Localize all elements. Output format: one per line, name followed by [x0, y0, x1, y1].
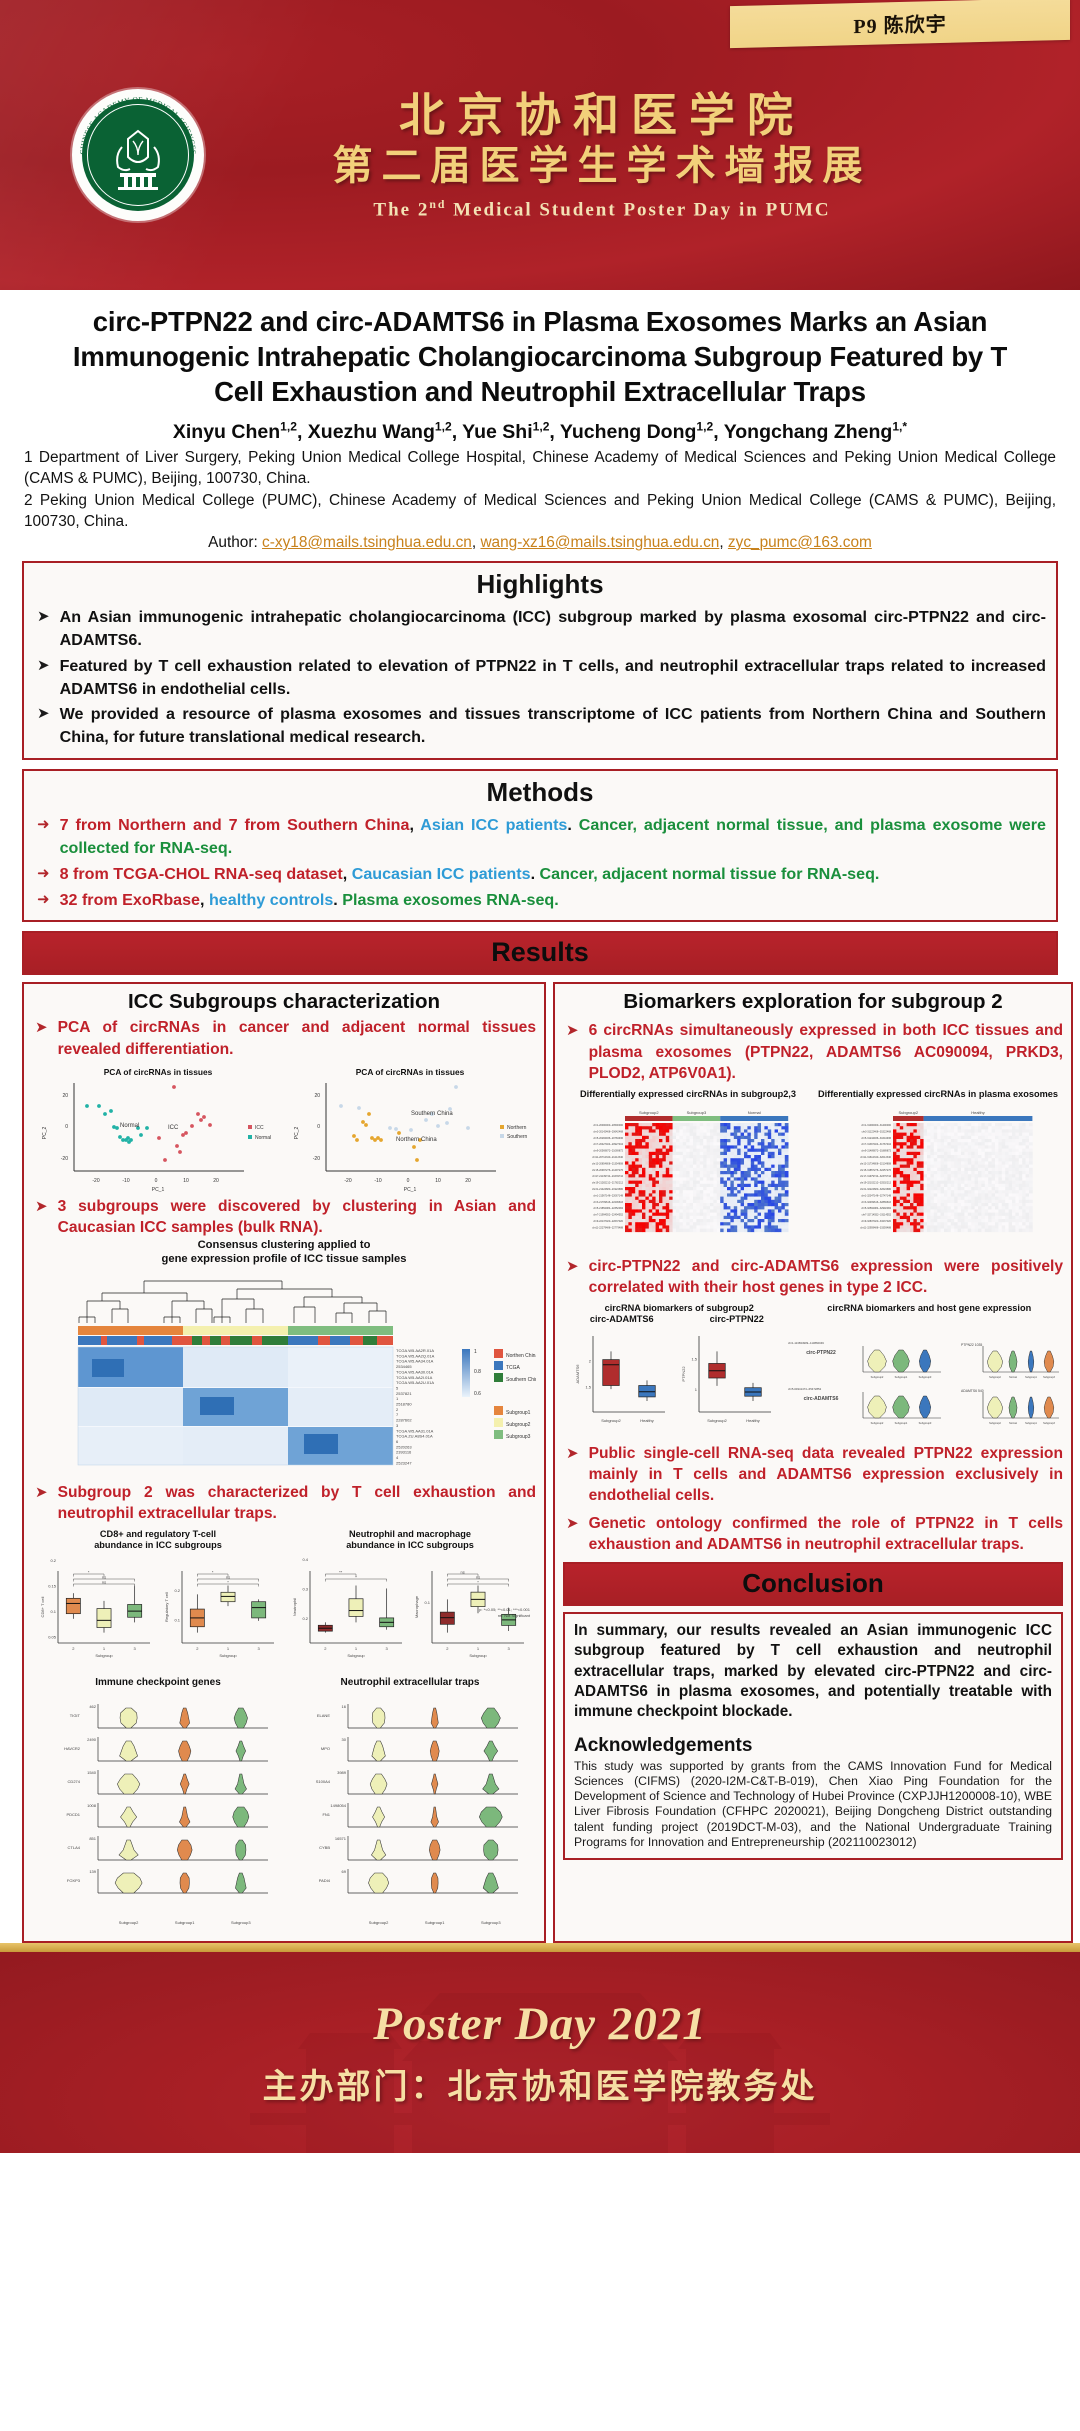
- svg-text:-10: -10: [122, 1178, 129, 1184]
- heatmap-group-label: Subgroup2: [899, 1110, 919, 1115]
- svg-text:Subgroup2: Subgroup2: [871, 1375, 884, 1379]
- svg-text:3: 3: [134, 1646, 137, 1651]
- svg-text:ns: ns: [461, 1569, 465, 1574]
- svg-text:ns: Not Significant: ns: Not Significant: [498, 1613, 531, 1618]
- legend-northern: Northen China: [506, 1353, 536, 1359]
- svg-text:3: 3: [508, 1646, 511, 1651]
- arrow-icon: ➤: [34, 606, 50, 627]
- email-link-3[interactable]: zyc_pumc@163.com: [728, 534, 872, 551]
- violin-gene-label: PDCD1: [66, 1812, 80, 1817]
- svg-text:CHINESE ACADEMY OF MEDICAL SCI: CHINESE ACADEMY OF MEDICAL SCIENCES: [78, 95, 198, 155]
- violin-max-value: 1008: [87, 1803, 97, 1808]
- svg-text:PC_1: PC_1: [404, 1187, 417, 1193]
- violin-max-value: 2490: [87, 1737, 97, 1742]
- svg-text:Subgroup1: Subgroup1: [895, 1375, 908, 1379]
- heatmap-row-label: 4: [396, 1455, 399, 1460]
- results-left-column: ICC Subgroups characterization ➤ PCA of …: [22, 982, 546, 1943]
- circrna-name: circ-PTPN22: [806, 1350, 836, 1356]
- right-bullet-2: ➤ circ-PTPN22 and circ-ADAMTS6 expressio…: [563, 1256, 1063, 1298]
- acknowledgements-heading: Acknowledgements: [574, 1735, 1052, 1757]
- svg-text:chr9-31489872--31889872: chr9-31489872--31889872: [861, 1149, 891, 1152]
- axis-label: PTPN22: [681, 1366, 686, 1382]
- cluster-caption-line2: gene expression profile of ICC tissue sa…: [32, 1252, 536, 1266]
- svg-text:1.5: 1.5: [691, 1357, 697, 1362]
- author-emails: Author: c-xy18@mails.tsinghua.edu.cn, wa…: [16, 532, 1064, 552]
- method-text: 8 from TCGA-CHOL RNA-seq dataset, Caucas…: [60, 863, 1046, 886]
- methods-section: Methods ➜7 from Northern and 7 from Sout…: [22, 769, 1058, 922]
- right-bullet-2-text: circ-PTPN22 and circ-ADAMTS6 expression …: [589, 1256, 1063, 1298]
- tiananmen-gate-illustration: [190, 1963, 890, 2153]
- svg-text:chr7-21994552--22494552: chr7-21994552--22494552: [593, 1213, 623, 1216]
- heatmap-row-label: TCGA.W5.AA2I.01A: [396, 1375, 433, 1380]
- banner-english-title: The 2nd Medical Student Poster Day in PU…: [204, 198, 1000, 221]
- svg-text:chr9-20569872--21069872: chr9-20569872--21069872: [593, 1149, 623, 1152]
- boxplots-figure: 0.050.10.150.2CD8+ T cell*nsns0.10.2Regu…: [32, 1557, 536, 1675]
- svg-text:Subgroup2: Subgroup2: [989, 1376, 1001, 1379]
- scale-tick-08: 0.8: [474, 1369, 481, 1375]
- svg-text:Northern: Northern: [507, 1125, 527, 1131]
- email-label: Author:: [208, 534, 258, 551]
- poster-number-label: P9 陈欣宇: [853, 7, 946, 38]
- svg-text:chr7-32714552--33114552: chr7-32714552--33114552: [862, 1213, 892, 1216]
- svg-text:chr5-21852084--22352084: chr5-21852084--22352084: [593, 1207, 623, 1210]
- results-right-column: Biomarkers exploration for subgroup 2 ➤ …: [553, 982, 1073, 1943]
- svg-text:3: 3: [386, 1646, 389, 1651]
- poster-number-tag: P9 陈欣宇: [730, 0, 1070, 48]
- svg-text:0.15: 0.15: [48, 1583, 57, 1588]
- svg-text:chr11-32959488--33359488: chr11-32959488--33359488: [860, 1226, 891, 1229]
- violin-gene-label: MPO: [321, 1746, 330, 1751]
- violin-xlabel: Subgroup2: [369, 1920, 389, 1925]
- violin-gene-label: CTLA4: [68, 1845, 81, 1850]
- svg-text:chr15-20997276--21497276: chr15-20997276--21497276: [592, 1168, 624, 1171]
- svg-text:Southern: Southern: [507, 1134, 528, 1140]
- axis-label: Macrophage: [414, 1595, 419, 1618]
- violin-max-value: 1540: [87, 1770, 97, 1775]
- svg-text:0.4: 0.4: [302, 1557, 308, 1562]
- svg-text:2: 2: [589, 1359, 592, 1364]
- svg-text:chr1-31000000--31400000: chr1-31000000--31400000: [861, 1124, 891, 1127]
- host-gene-caption: circRNA biomarkers and host gene express…: [797, 1303, 1062, 1315]
- violin-max-value: 1498054: [330, 1803, 346, 1808]
- svg-text:Subgroup1: Subgroup1: [1025, 1376, 1037, 1379]
- box-group-label: Healthy: [746, 1418, 760, 1423]
- results-columns: ICC Subgroups characterization ➤ PCA of …: [22, 982, 1058, 1943]
- hm2-caption: Differentially expressed circRNAs in pla…: [816, 1089, 1061, 1101]
- method-item: ➜7 from Northern and 7 from Southern Chi…: [34, 814, 1046, 860]
- conclusion-band: Conclusion: [563, 1562, 1063, 1606]
- svg-text:chr1-32347148--32747148: chr1-32347148--32747148: [861, 1194, 891, 1197]
- svg-text:0: 0: [317, 1124, 320, 1130]
- left-bullet-2: ➤ 3 subgroups were discovered by cluster…: [32, 1196, 536, 1238]
- svg-text:chr5-20284936--20784936: chr5-20284936--20784936: [593, 1136, 623, 1139]
- boxplot-b-caption-2: abundance in ICC subgroups: [284, 1540, 536, 1552]
- svg-text:-20: -20: [92, 1178, 99, 1184]
- svg-text:-20: -20: [313, 1156, 320, 1162]
- violin-max-value: 16: [342, 1704, 347, 1709]
- violin-max-value: 16571: [335, 1836, 347, 1841]
- right-column-heading: Biomarkers exploration for subgroup 2: [563, 990, 1063, 1014]
- svg-text:Normal: Normal: [1009, 1422, 1017, 1425]
- abundance-boxplots: 0.050.10.150.2CD8+ T cell*nsns0.10.2Regu…: [32, 1557, 536, 1675]
- differential-circrna-heatmaps: Subgroup2Subgroup3Normalchr1-20000000--2…: [563, 1101, 1063, 1251]
- conclusion-box: In summary, our results revealed an Asia…: [563, 1612, 1063, 1860]
- right-bullet-4: ➤ Genetic ontology confirmed the role of…: [563, 1513, 1063, 1555]
- affiliation-2: 2 Peking Union Medical College (PUMC), C…: [16, 489, 1064, 532]
- svg-text:10: 10: [435, 1178, 441, 1184]
- svg-text:chr3-20142468--20642468: chr3-20142468--20642468: [593, 1130, 623, 1133]
- violin-gene-label: HAVCR2: [64, 1746, 81, 1751]
- pumc-logo: CHINESE ACADEMY OF MEDICAL SCIENCES: [72, 89, 204, 221]
- arrow-icon: ➤: [563, 1443, 579, 1464]
- svg-text:PC_2: PC_2: [42, 1126, 48, 1139]
- heatmap-group-label: Healthy: [971, 1110, 985, 1115]
- violin-max-value: 69: [342, 1869, 347, 1874]
- heatmap-row-label: 1: [396, 1396, 399, 1401]
- svg-text:20: 20: [314, 1093, 320, 1099]
- author-name: Yue Shi1,2,: [462, 421, 560, 443]
- svg-text:chr13-31734808--32134808: chr13-31734808--32134808: [860, 1162, 892, 1165]
- consensus-clustering-figure: TCGA.W5.AA2R.01ATCGA.W5.AA2Q.01ATCGA.W5.…: [32, 1271, 536, 1479]
- svg-text:chr1-21567148--22067148: chr1-21567148--22067148: [593, 1194, 623, 1197]
- poster-body: circ-PTPN22 and circ-ADAMTS6 in Plasma E…: [0, 290, 1080, 1943]
- pca-figure-row: PCA of circRNAs in tissues 20 0 -20 PC_2…: [32, 1065, 536, 1193]
- pca-chart-tissues-icc-normal: PCA of circRNAs in tissues 20 0 -20 PC_2…: [34, 1065, 282, 1193]
- violin-gene-label: FOXP3: [67, 1878, 81, 1883]
- svg-text:1.5: 1.5: [585, 1385, 591, 1390]
- svg-text:chr9-22137020--22637020: chr9-22137020--22637020: [593, 1220, 623, 1223]
- heatmap-row-label: 2537821: [396, 1391, 412, 1396]
- svg-text:*: *: [355, 1574, 357, 1579]
- box-group-label: Healthy: [640, 1418, 654, 1423]
- svg-text:-10: -10: [374, 1178, 381, 1184]
- violin-gene-label: CYBB: [319, 1845, 330, 1850]
- svg-text:Normal: Normal: [255, 1135, 271, 1141]
- author-list: Xinyu Chen1,2, Xuezhu Wang1,2, Yue Shi1,…: [16, 414, 1064, 447]
- svg-text:Normal: Normal: [120, 1123, 139, 1129]
- legend-subgroup2: Subgroup2: [506, 1422, 531, 1428]
- svg-text:Subgroup: Subgroup: [219, 1653, 237, 1658]
- svg-text:p: *<0.05; **<0.01; ***<0.001: p: *<0.05; **<0.01; ***<0.001: [479, 1607, 531, 1612]
- svg-text:1: 1: [103, 1646, 106, 1651]
- footer-banner: Poster Day 2021 主办部门：北京协和医学院教务处: [0, 1952, 1080, 2153]
- left-column-heading: ICC Subgroups characterization: [32, 990, 536, 1014]
- svg-text:0.2: 0.2: [302, 1616, 308, 1621]
- svg-text:ICC: ICC: [255, 1125, 264, 1131]
- svg-text:Southern China: Southern China: [411, 1111, 453, 1117]
- svg-text:PC_1: PC_1: [152, 1187, 165, 1193]
- box-caption-main: circRNA biomarkers of subgroup2: [564, 1303, 794, 1315]
- acknowledgements-text: This study was supported by grants from …: [574, 1759, 1052, 1851]
- legend-subgroup3: Subgroup3: [506, 1434, 531, 1440]
- svg-text:0.2: 0.2: [50, 1558, 56, 1563]
- axis-label: ADAMTS6: [575, 1364, 580, 1384]
- right-bullet-1: ➤ 6 circRNAs simultaneously expressed in…: [563, 1020, 1063, 1084]
- highlight-item: ➤ We provided a resource of plasma exoso…: [34, 703, 1046, 749]
- heatmap-row-label: 5: [396, 1386, 399, 1391]
- consensus-heatmap: TCGA.W5.AA2R.01ATCGA.W5.AA2Q.01ATCGA.W5.…: [32, 1271, 536, 1479]
- violin-xlabel: Subgroup3: [481, 1920, 501, 1925]
- svg-text:chr17-31979744--32379744: chr17-31979744--32379744: [860, 1175, 892, 1178]
- heatmap-row-label: TCGA.W5.AA34.01A: [396, 1359, 434, 1364]
- svg-text:0.05: 0.05: [48, 1634, 57, 1639]
- svg-text:Subgroup1: Subgroup1: [895, 1421, 908, 1425]
- highlight-text: An Asian immunogenic intrahepatic cholan…: [60, 606, 1046, 652]
- legend-southern: Southern China: [506, 1377, 536, 1383]
- axis-label: CD8+ T cell: [40, 1596, 45, 1617]
- svg-text:chr9-32837020--33237020: chr9-32837020--33237020: [861, 1220, 891, 1223]
- boxplot-a-caption-2: abundance in ICC subgroups: [32, 1540, 284, 1552]
- host-coord-label: chr1-113834909--113860049: [788, 1341, 824, 1345]
- highlight-item: ➤ Featured by T cell exhaustion related …: [34, 655, 1046, 701]
- svg-text:Subgroup3: Subgroup3: [919, 1375, 932, 1379]
- boxplot-a-caption-1: CD8+ and regulatory T-cell: [32, 1529, 284, 1541]
- legend-subgroup1: Subgroup1: [506, 1410, 531, 1416]
- svg-text:2: 2: [446, 1646, 449, 1651]
- svg-text:chr15-31857276--32257276: chr15-31857276--32257276: [860, 1168, 892, 1171]
- heatmap-row-label: TCGA.W5.AA30.01A: [396, 1370, 434, 1375]
- svg-text:ns: ns: [102, 1579, 106, 1584]
- svg-text:2: 2: [324, 1646, 327, 1651]
- heatmap-row-label: 2287602: [396, 1418, 412, 1423]
- violin-max-value: 139: [89, 1869, 96, 1874]
- svg-text:20: 20: [465, 1178, 471, 1184]
- legend-tcga: TCGA: [506, 1365, 521, 1371]
- method-text: 7 from Northern and 7 from Southern Chin…: [60, 814, 1046, 860]
- svg-text:*: *: [212, 1569, 214, 1574]
- circrna-heatmaps-figure: Differentially expressed circRNAs in sub…: [563, 1089, 1063, 1251]
- svg-text:Subgroup1: Subgroup1: [1025, 1422, 1037, 1425]
- email-link-2[interactable]: wang-xz16@mails.tsinghua.edu.cn: [480, 534, 719, 551]
- right-bullet-3: ➤ Public single-cell RNA-seq data reveal…: [563, 1443, 1063, 1507]
- arrow-icon: ➜: [34, 863, 50, 884]
- arrow-icon: ➤: [563, 1256, 579, 1277]
- svg-text:0.2: 0.2: [174, 1588, 180, 1593]
- violin-xlabel: Subgroup1: [425, 1920, 445, 1925]
- author-name: Yongchang Zheng1,*: [724, 421, 907, 443]
- right-bullet-4-text: Genetic ontology confirmed the role of P…: [589, 1513, 1063, 1555]
- heatmap-row-label: TCGA.W5.AA31.01A: [396, 1429, 434, 1434]
- axis-label: Regulatory T cell: [164, 1592, 169, 1622]
- svg-text:Subgroup3: Subgroup3: [919, 1421, 932, 1425]
- arrow-icon: ➤: [34, 655, 50, 676]
- svg-text:2: 2: [72, 1646, 75, 1651]
- svg-text:chr19-32102212--32502212: chr19-32102212--32502212: [860, 1181, 892, 1184]
- hm1-caption: Differentially expressed circRNAs in sub…: [566, 1089, 811, 1101]
- svg-text:**: **: [339, 1569, 343, 1574]
- svg-text:-20: -20: [344, 1178, 351, 1184]
- gene-violin-plots: TIGIT462HAVCR22490CD2741540PDCD11008CTLA…: [32, 1694, 536, 1932]
- box-group-label: Subgroup2: [707, 1418, 727, 1423]
- violin-xlabel: Subgroup3: [231, 1920, 251, 1925]
- arrow-icon: ➤: [563, 1020, 579, 1041]
- svg-text:10: 10: [183, 1178, 189, 1184]
- violin-b-caption: Neutrophil extracellular traps: [284, 1677, 536, 1690]
- method-text: 32 from ExoRbase, healthy controls. Plas…: [60, 889, 1046, 912]
- svg-text:PC_2: PC_2: [294, 1126, 300, 1139]
- methods-heading: Methods: [34, 775, 1046, 811]
- right-bullet-1-text: 6 circRNAs simultaneously expressed in b…: [589, 1020, 1063, 1084]
- origin-annotation-bar: [78, 1336, 393, 1345]
- svg-text:chr17-21139744--21639744: chr17-21139744--21639744: [592, 1175, 623, 1178]
- method-item: ➜32 from ExoRbase, healthy controls. Pla…: [34, 889, 1046, 912]
- svg-text:Subgroup: Subgroup: [347, 1653, 365, 1658]
- heatmap-row-label: 2: [396, 1407, 399, 1412]
- svg-text:ICC: ICC: [168, 1125, 179, 1131]
- violin-max-value: 3989: [337, 1770, 347, 1775]
- pca-chart-1-title: PCA of circRNAs in tissues: [104, 1067, 213, 1077]
- left-bullet-3: ➤ Subgroup 2 was characterized by T cell…: [32, 1482, 536, 1524]
- scale-tick-1: 1: [474, 1349, 477, 1355]
- svg-text:Subgroup2: Subgroup2: [989, 1422, 1001, 1425]
- svg-text:1: 1: [355, 1646, 358, 1651]
- banner-en-part1: The 2: [373, 199, 429, 220]
- box-group-label: Subgroup2: [601, 1418, 621, 1423]
- svg-text:chr3-31122468--31522468: chr3-31122468--31522468: [862, 1130, 892, 1133]
- arrow-icon: ➤: [32, 1196, 48, 1217]
- left-bullet-1: ➤ PCA of circRNAs in cancer and adjacent…: [32, 1017, 536, 1059]
- violin-gene-label: ELANE: [317, 1713, 330, 1718]
- highlights-section: Highlights ➤ An Asian immunogenic intrah…: [22, 561, 1058, 760]
- svg-text:0: 0: [155, 1178, 158, 1184]
- svg-text:0.1: 0.1: [174, 1617, 180, 1622]
- violin-max-value: 30: [342, 1737, 347, 1742]
- heatmap-row-label: TCGA.ZU.A8S4.01A: [396, 1434, 433, 1439]
- boxplot-b-caption-1: Neutrophil and macrophage: [284, 1529, 536, 1541]
- svg-text:20: 20: [213, 1178, 219, 1184]
- logo-arc-text: CHINESE ACADEMY OF MEDICAL SCIENCES: [71, 88, 205, 222]
- svg-text:chr5-32592084--32992084: chr5-32592084--32992084: [861, 1207, 891, 1210]
- svg-text:Subgroup3: Subgroup3: [1043, 1376, 1055, 1379]
- svg-text:0.1: 0.1: [50, 1609, 56, 1614]
- svg-text:chr11-22279488--22779488: chr11-22279488--22779488: [592, 1226, 623, 1229]
- svg-text:3: 3: [258, 1646, 261, 1651]
- host-coord-label: chr5-64941474--65472852: [788, 1387, 822, 1391]
- email-link-1[interactable]: c-xy18@mails.tsinghua.edu.cn: [262, 534, 472, 551]
- cluster-caption-line1: Consensus clustering applied to: [32, 1238, 536, 1252]
- heatmap-row-label: 2534465: [396, 1364, 412, 1369]
- violin-xlabel: Subgroup2: [119, 1920, 139, 1925]
- axis-label: Neutrophil: [292, 1597, 297, 1615]
- footer-gold-rule: [0, 1943, 1080, 1952]
- highlight-text: Featured by T cell exhaustion related to…: [60, 655, 1046, 701]
- arrow-icon: ➜: [34, 814, 50, 835]
- left-bullet-2-text: 3 subgroups were discovered by clusterin…: [58, 1196, 536, 1238]
- svg-text:-20: -20: [61, 1156, 68, 1162]
- consensus-matrix: [78, 1347, 393, 1465]
- heatmap-row-label: 2520263: [396, 1445, 412, 1450]
- heatmap-colorscale: [462, 1349, 470, 1397]
- banner-en-part2: Medical Student Poster Day in PUMC: [446, 199, 830, 220]
- heatmap-row-label: 2393116: [396, 1450, 412, 1455]
- arrow-icon: ➤: [32, 1017, 48, 1038]
- svg-text:*: *: [477, 1579, 479, 1584]
- svg-text:1: 1: [227, 1646, 230, 1651]
- highlights-heading: Highlights: [34, 567, 1046, 603]
- left-bullet-3-text: Subgroup 2 was characterized by T cell e…: [58, 1482, 536, 1524]
- heatmap-row-label: 3: [396, 1423, 399, 1428]
- svg-text:0: 0: [407, 1178, 410, 1184]
- page-title: circ-PTPN22 and circ-ADAMTS6 in Plasma E…: [16, 290, 1064, 414]
- circrna-name: circ-ADAMTS6: [804, 1396, 839, 1402]
- results-band: Results: [22, 931, 1058, 975]
- pca-chart-2-title: PCA of circRNAs in tissues: [356, 1067, 465, 1077]
- violin-a-caption: Immune checkpoint genes: [32, 1677, 284, 1690]
- svg-text:2: 2: [196, 1646, 199, 1651]
- box-caption-adamts6: circ-ADAMTS6: [564, 1314, 679, 1326]
- svg-text:1: 1: [695, 1387, 698, 1392]
- header-banner: P9 陈欣宇 CHINESE ACADEMY OF MEDICAL SCIENC…: [0, 0, 1080, 290]
- heatmap-row-label: TCGA.W5.AA2U.01A: [396, 1380, 434, 1385]
- svg-text:0.1: 0.1: [424, 1600, 430, 1605]
- svg-text:*: *: [88, 1569, 90, 1574]
- svg-text:0: 0: [65, 1124, 68, 1130]
- heatmap-row-label: TCGA.W5.AA2R.01A: [396, 1348, 434, 1353]
- conclusion-text: In summary, our results revealed an Asia…: [574, 1621, 1052, 1723]
- heatmap-row-label: 2523247: [396, 1461, 412, 1466]
- box-caption-ptpn22: circ-PTPN22: [679, 1314, 794, 1326]
- right-bullet-3-text: Public single-cell RNA-seq data revealed…: [589, 1443, 1063, 1507]
- svg-text:chr11-20712340--21212340: chr11-20712340--21212340: [592, 1156, 623, 1159]
- svg-text:chr5-31244936--31644936: chr5-31244936--31644936: [861, 1136, 891, 1139]
- heatmap-row-label: 7: [396, 1412, 399, 1417]
- svg-text:*: *: [227, 1579, 229, 1584]
- svg-text:Northern China: Northern China: [396, 1137, 437, 1143]
- violin-gene-label: S100A4: [316, 1779, 331, 1784]
- svg-text:chr13-20854808--21354808: chr13-20854808--21354808: [592, 1162, 624, 1165]
- banner-en-sup: nd: [429, 198, 446, 211]
- banner-chinese-title-2: 第二届医学生学术墙报展: [204, 142, 1000, 190]
- svg-text:0.3: 0.3: [302, 1586, 308, 1591]
- svg-text:Normal: Normal: [1009, 1376, 1017, 1379]
- heatmap-row-label: TCGA.W5.AA2Q.01A: [396, 1354, 435, 1359]
- svg-text:Subgroup: Subgroup: [469, 1653, 487, 1658]
- violin-gene-label: CD274: [68, 1779, 81, 1784]
- host-gene-label: PTPN22 1035: [961, 1343, 982, 1347]
- author-name: Yucheng Dong1,2,: [560, 421, 724, 443]
- heatmap-row-label: 2518780: [396, 1402, 412, 1407]
- svg-text:Subgroup2: Subgroup2: [871, 1421, 884, 1425]
- violin-max-value: 851: [89, 1836, 96, 1841]
- highlight-text: We provided a resource of plasma exosome…: [60, 703, 1046, 749]
- host-gene-label: ADAMTS6 540: [961, 1389, 984, 1393]
- svg-text:chr7-20427404--20927404: chr7-20427404--20927404: [593, 1143, 623, 1146]
- svg-text:chr19-21282212--21782212: chr19-21282212--21782212: [592, 1181, 624, 1184]
- left-bullet-1-text: PCA of circRNAs in cancer and adjacent n…: [58, 1017, 536, 1059]
- violin-gene-label: FN1: [322, 1812, 330, 1817]
- svg-text:20: 20: [62, 1093, 68, 1099]
- arrow-icon: ➤: [32, 1482, 48, 1503]
- violin-figure: TIGIT462HAVCR22490CD2741540PDCD11008CTLA…: [32, 1694, 536, 1932]
- violin-max-value: 462: [89, 1704, 96, 1709]
- heatmap-row-label: 6: [396, 1439, 399, 1444]
- svg-text:1: 1: [477, 1646, 480, 1651]
- svg-text:chr1-20000000--20500000: chr1-20000000--20500000: [593, 1124, 623, 1127]
- svg-text:chr11-31612340--32012340: chr11-31612340--32012340: [860, 1156, 891, 1159]
- heatmap-group-label: Subgroup3: [687, 1110, 707, 1115]
- method-item: ➜8 from TCGA-CHOL RNA-seq dataset, Cauca…: [34, 863, 1046, 886]
- svg-text:chr3-21709616--22209616: chr3-21709616--22209616: [593, 1200, 623, 1203]
- biomarker-boxplots-and-host-genes: 1.52ADAMTS611.5PTPN22Subgroup2HealthySub…: [563, 1326, 1063, 1438]
- violin-gene-label: PADI4: [319, 1878, 331, 1883]
- footer-subtitle: 主办部门：北京协和医学院教务处: [263, 2059, 818, 2108]
- svg-text:chr7-31367404--31767404: chr7-31367404--31767404: [861, 1143, 891, 1146]
- scale-tick-06: 0.6: [474, 1391, 481, 1397]
- author-name: Xuezhu Wang1,2,: [308, 421, 462, 443]
- biomarker-box-host-figure: circRNA biomarkers of subgroup2 circ-ADA…: [563, 1303, 1063, 1438]
- highlight-item: ➤ An Asian immunogenic intrahepatic chol…: [34, 606, 1046, 652]
- violin-gene-label: TIGIT: [70, 1713, 81, 1718]
